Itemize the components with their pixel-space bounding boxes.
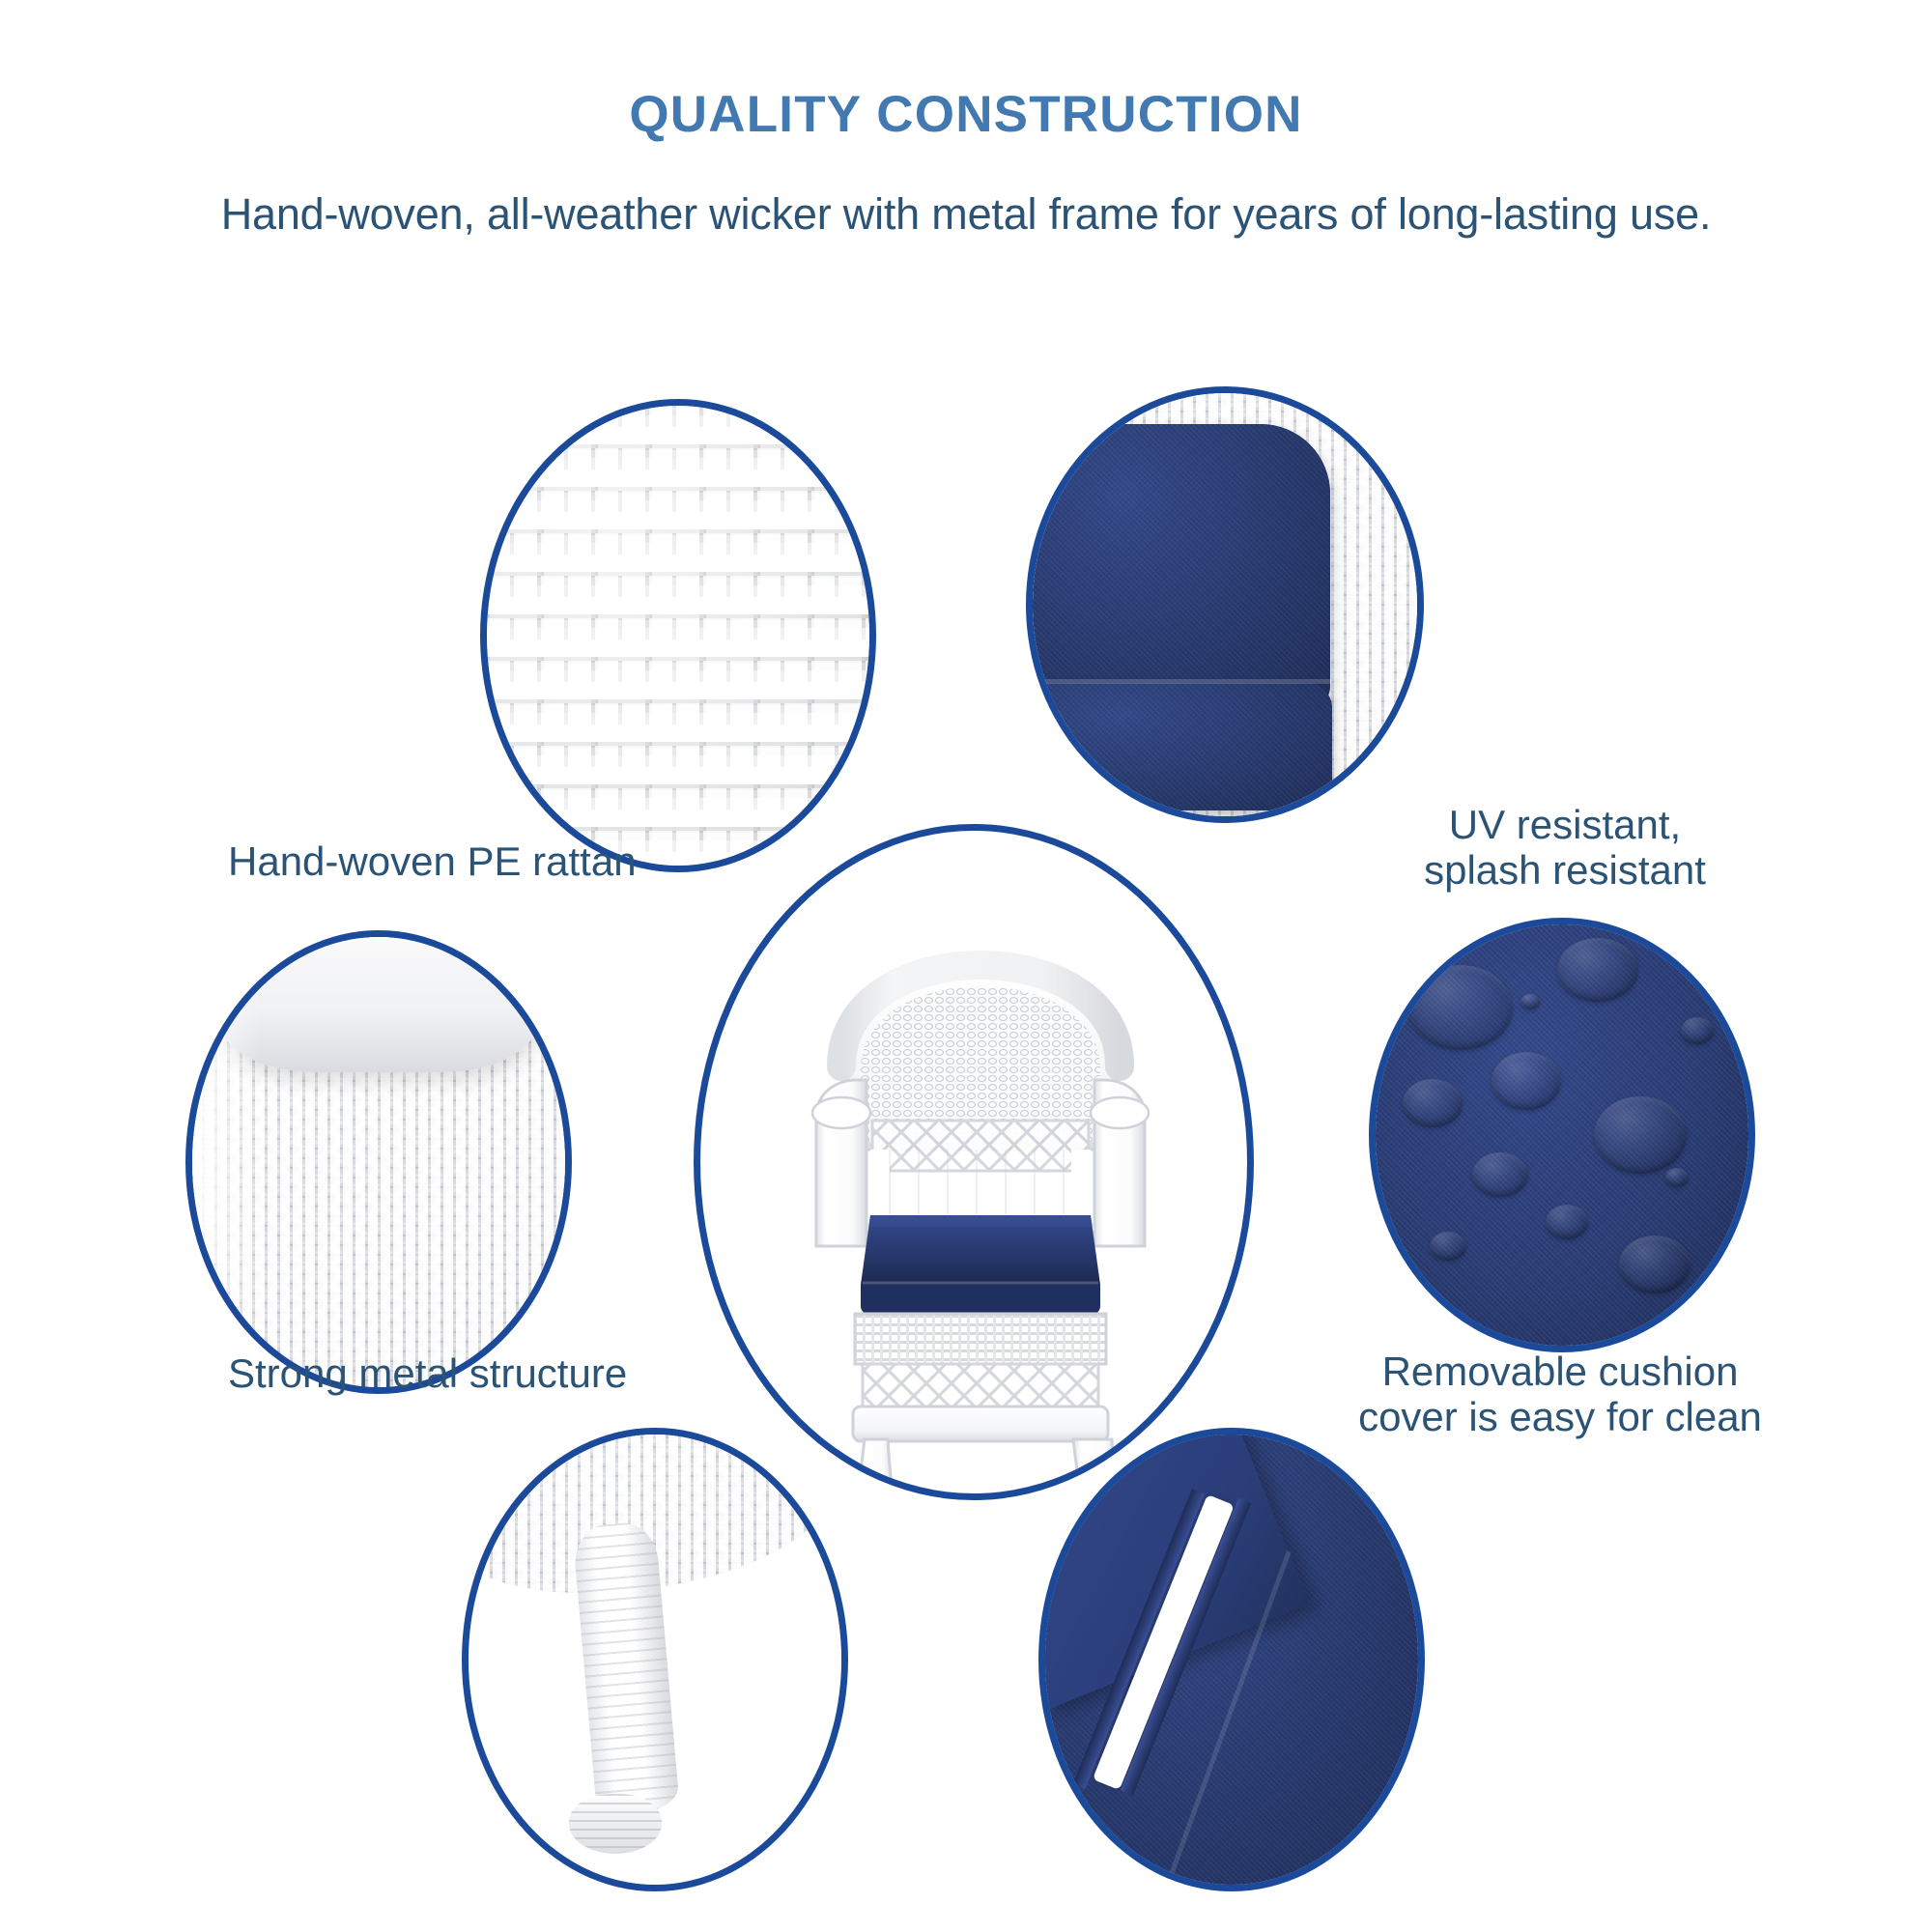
caption-uv-splash-resistant: UV resistant, splash resistant: [1352, 802, 1777, 894]
water-droplet: [1408, 965, 1513, 1050]
caption-hand-woven-pe-rattan: Hand-woven PE rattan: [228, 838, 769, 884]
back-cushion: [1033, 424, 1330, 709]
water-droplet: [1492, 1052, 1561, 1110]
feature-circle-uv-splash-resistant: [1026, 386, 1424, 823]
water-droplet: [1472, 1152, 1528, 1197]
feature-circle-chair-leg-detail: [462, 1428, 848, 1891]
water-droplet: [1546, 1205, 1588, 1239]
cushion-zipper-detail-image: [1045, 1435, 1418, 1885]
strong-metal-structure-image: [192, 937, 565, 1387]
water-droplet: [1594, 1096, 1687, 1174]
water-droplet: [1619, 1236, 1690, 1293]
water-droplet: [1520, 994, 1540, 1009]
seat-cushion: [1033, 683, 1332, 810]
uv-splash-resistant-image: [1033, 393, 1417, 816]
feature-circle-full-chair: [694, 824, 1254, 1500]
feature-circle-hand-woven-pe-rattan: [480, 399, 876, 872]
water-droplet: [1557, 938, 1638, 1002]
caption-removable-cushion-cover: Removable cushion cover is easy for clea…: [1333, 1349, 1787, 1440]
water-droplet: [1403, 1079, 1463, 1127]
feature-circle-cushion-zipper-detail: [1038, 1428, 1425, 1891]
caption-strong-metal-structure: Strong metal structure: [228, 1350, 808, 1396]
feature-circle-strong-metal-structure: [185, 930, 572, 1394]
feature-circle-removable-cushion-cover: [1369, 918, 1755, 1352]
seat-cushion: [861, 1215, 1100, 1318]
feature-collage: Hand-woven PE rattan UV resistant, splas…: [0, 0, 1932, 1932]
hand-woven-pe-rattan-image: [487, 406, 869, 866]
water-droplet: [1665, 1168, 1689, 1187]
removable-cushion-cover-image: [1376, 924, 1748, 1346]
water-droplet: [1681, 1017, 1714, 1044]
water-droplet: [1430, 1232, 1466, 1261]
chair-leg-detail-image: [469, 1435, 841, 1885]
